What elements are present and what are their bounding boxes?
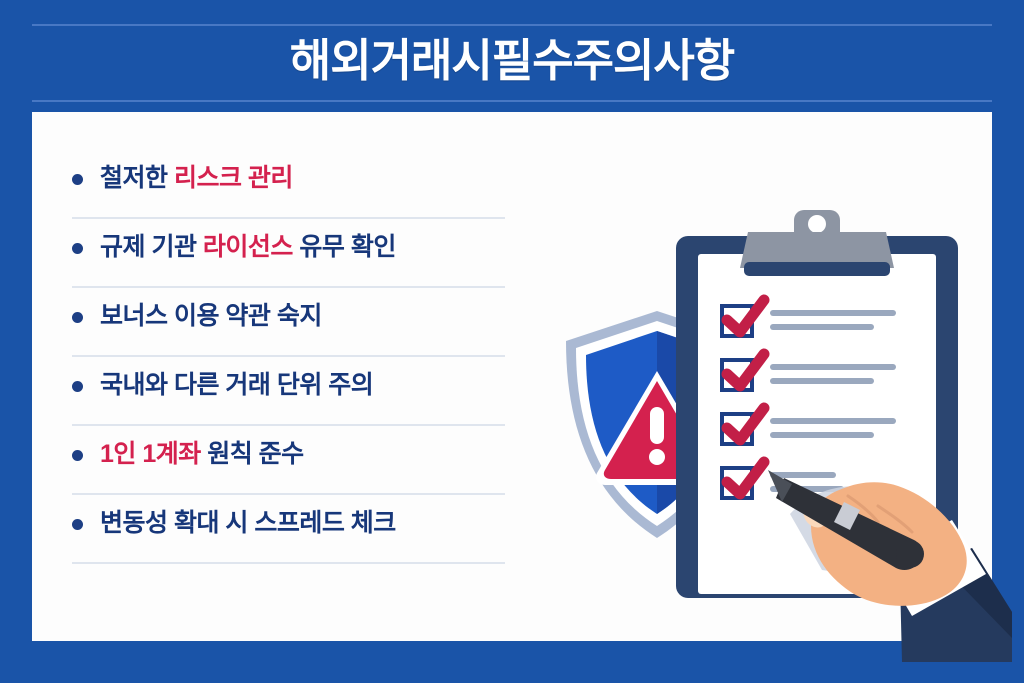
list-item-plain-before: 규제 기관 bbox=[100, 233, 203, 261]
list-item[interactable]: 규제 기관 라이선스 유무 확인 bbox=[72, 219, 545, 288]
exclamation-dot bbox=[649, 449, 665, 465]
list-item-text: 보너스 이용 약관 숙지 bbox=[100, 296, 322, 336]
list-item-text: 철저한 리스크 관리 bbox=[100, 158, 293, 198]
bullet-icon bbox=[72, 312, 83, 323]
list-item-text: 1인 1계좌 원칙 준수 bbox=[100, 434, 304, 474]
list-item-plain-before: 보너스 이용 약관 숙지 bbox=[100, 302, 322, 330]
paper-line bbox=[770, 310, 896, 316]
bullet-icon bbox=[72, 519, 83, 530]
paper-line bbox=[770, 324, 874, 330]
header-band: 해외거래시필수주의사항 bbox=[0, 0, 1024, 112]
exclamation-bar bbox=[650, 407, 664, 444]
header-rule-bottom bbox=[32, 100, 992, 102]
paper-line bbox=[770, 364, 896, 370]
checklist-list: 철저한 리스크 관리 규제 기관 라이선스 유무 확인 보너스 이용 약관 숙지… bbox=[72, 150, 545, 564]
bullet-icon bbox=[72, 450, 83, 461]
bullet-icon bbox=[72, 381, 83, 392]
bullet-icon bbox=[72, 243, 83, 254]
list-divider bbox=[72, 562, 505, 564]
paper-line bbox=[770, 418, 896, 424]
list-item-highlight: 리스크 관리 bbox=[174, 164, 293, 192]
list-item-text: 규제 기관 라이선스 유무 확인 bbox=[100, 227, 396, 267]
list-item[interactable]: 국내와 다른 거래 단위 주의 bbox=[72, 357, 545, 426]
list-item-plain-after: 유무 확인 bbox=[293, 233, 396, 261]
header-rule-top bbox=[32, 24, 992, 26]
paper-line bbox=[770, 378, 874, 384]
list-item[interactable]: 보너스 이용 약관 숙지 bbox=[72, 288, 545, 357]
bullet-icon bbox=[72, 174, 83, 185]
list-item-plain-before: 변동성 확대 시 스프레드 체크 bbox=[100, 509, 396, 537]
list-item[interactable]: 변동성 확대 시 스프레드 체크 bbox=[72, 495, 545, 564]
pen-cap bbox=[896, 540, 924, 568]
infographic-canvas: 해외거래시필수주의사항 철저한 리스크 관리 규제 기관 라이선스 유무 확인 … bbox=[0, 0, 1024, 683]
list-item-highlight: 1인 1계좌 bbox=[100, 440, 201, 468]
list-item-plain-before: 국내와 다른 거래 단위 주의 bbox=[100, 371, 373, 399]
list-item-plain-before: 철저한 bbox=[100, 164, 174, 192]
paper-line bbox=[770, 432, 874, 438]
clip-bar bbox=[744, 262, 890, 276]
page-title: 해외거래시필수주의사항 bbox=[0, 30, 1024, 92]
list-item-highlight: 라이선스 bbox=[203, 233, 293, 261]
list-item-text: 국내와 다른 거래 단위 주의 bbox=[100, 365, 373, 405]
list-item-plain-after: 원칙 준수 bbox=[201, 440, 304, 468]
list-item[interactable]: 1인 1계좌 원칙 준수 bbox=[72, 426, 545, 495]
list-item[interactable]: 철저한 리스크 관리 bbox=[72, 150, 545, 219]
list-item-text: 변동성 확대 시 스프레드 체크 bbox=[100, 503, 396, 543]
content-card: 철저한 리스크 관리 규제 기관 라이선스 유무 확인 보너스 이용 약관 숙지… bbox=[32, 112, 992, 641]
clip-hole bbox=[808, 215, 826, 233]
hand-with-pen bbox=[782, 462, 1012, 662]
illustration bbox=[532, 182, 1002, 642]
